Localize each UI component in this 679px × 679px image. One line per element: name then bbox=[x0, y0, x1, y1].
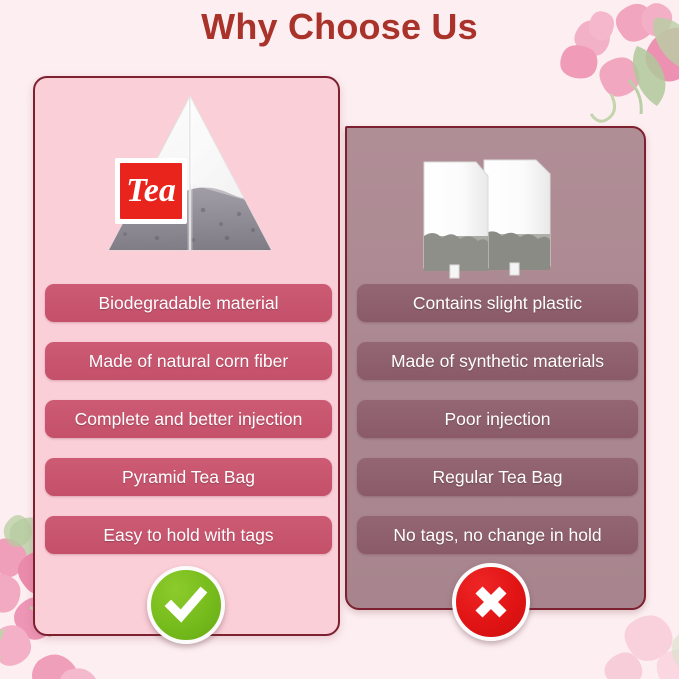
con-feature-item: Regular Tea Bag bbox=[357, 458, 638, 496]
tea-tag: Tea bbox=[115, 158, 187, 224]
cross-icon bbox=[452, 563, 530, 641]
page-title: Why Choose Us bbox=[0, 6, 679, 48]
pyramid-tea-bag-image: Tea bbox=[95, 88, 285, 273]
con-feature-item: Made of synthetic materials bbox=[357, 342, 638, 380]
pro-feature-item: Complete and better injection bbox=[45, 400, 332, 438]
infographic-canvas: Why Choose Us bbox=[0, 0, 679, 679]
regular-flat-tea-bags-image bbox=[410, 150, 585, 280]
pro-feature-item: Biodegradable material bbox=[45, 284, 332, 322]
check-icon bbox=[147, 566, 225, 644]
con-feature-item: Contains slight plastic bbox=[357, 284, 638, 322]
svg-text:Tea: Tea bbox=[126, 172, 176, 209]
pro-feature-item: Easy to hold with tags bbox=[45, 516, 332, 554]
con-feature-list: Contains slight plastic Made of syntheti… bbox=[347, 284, 644, 574]
pyramid-tea-bag-panel: Tea Biodegradable material Made of natur… bbox=[33, 76, 340, 636]
pro-feature-list: Biodegradable material Made of natural c… bbox=[35, 284, 338, 574]
pro-feature-item: Made of natural corn fiber bbox=[45, 342, 332, 380]
con-feature-item: Poor injection bbox=[357, 400, 638, 438]
con-feature-item: No tags, no change in hold bbox=[357, 516, 638, 554]
regular-tea-bag-panel: Contains slight plastic Made of syntheti… bbox=[345, 126, 646, 610]
pro-feature-item: Pyramid Tea Bag bbox=[45, 458, 332, 496]
